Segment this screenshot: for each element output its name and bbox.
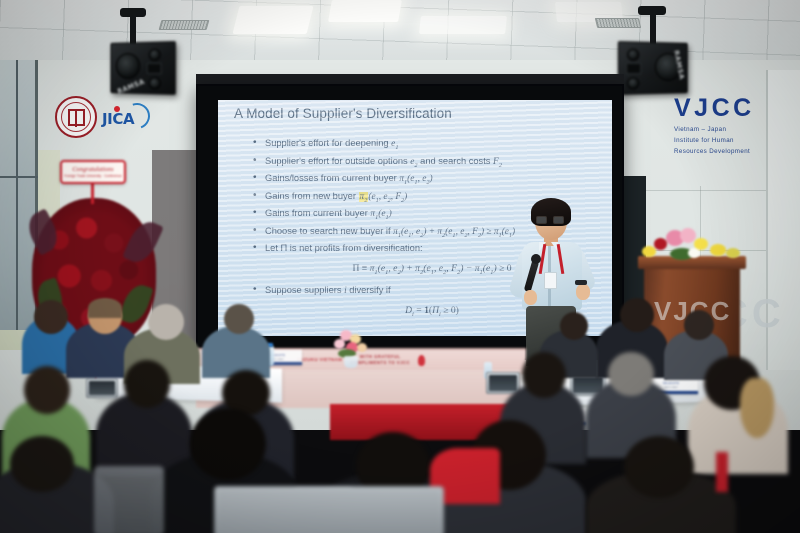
ftu-monogram [68,109,85,126]
flower [688,248,700,258]
flower [726,248,740,258]
vjcc-subtitle: Vietnam – Japan Institute for Human Reso… [674,125,784,158]
ceiling-speaker-right: RAMSA [618,41,688,95]
vjcc-title: VJCC [674,96,784,121]
vjcc-subtitle-line-1: Vietnam – Japan [674,125,784,136]
speaker-tweeter-icon [149,77,161,89]
audience-chair [94,466,164,533]
flower [710,244,726,256]
ceiling-air-vent [595,18,641,28]
ftu-seal-logo [55,96,97,138]
slide-bullet: Gains/losses from current buyer π1(e1, e… [252,173,612,186]
congratulations-sign: Congratulations Foreign Trade University… [60,160,126,184]
laptop-display [489,375,517,391]
audience-head [522,352,566,398]
laptop-screen [86,378,118,398]
speaker-port [626,63,641,74]
slide-title: A Model of Supplier's Diversification [234,106,452,121]
audience-head [34,300,68,334]
speaker-tweeter-icon [627,49,639,61]
eyeglasses-icon [536,216,566,224]
flower [334,339,345,349]
highlighted-term: π2 [359,192,369,202]
podium-flower-arrangement [636,228,748,262]
audience-head [608,352,654,396]
audience-hair-highlight [740,378,774,438]
jica-logo: JICA [100,104,152,134]
slide-bullet: Supplier's effort for deepening e1 [252,138,612,151]
speaker-pole-right [650,12,656,46]
wristwatch-icon [575,280,587,285]
speaker-port [147,63,162,74]
flower [357,343,367,352]
audience-head [684,310,714,340]
ceiling-light-panel [233,6,314,34]
banner-flame-icon [418,355,425,366]
laptop-display [217,489,441,533]
flower [654,238,667,250]
speaker-tweeter-icon [627,77,639,89]
audience-head [24,366,70,414]
jica-label: JICA [102,110,134,128]
laptop-display [89,381,115,395]
speaker-woofer-icon [116,53,140,79]
audience-head [124,360,170,408]
presenter-right-hand [576,284,590,300]
eyeglass-lens [553,216,564,224]
audience-head [148,304,184,340]
microphone-head-icon [531,254,541,264]
slide-bullet: Supplier's effort for outside options e2… [252,156,612,169]
audience-head [224,304,254,334]
vjcc-subtitle-line-2: Institute for Human [674,136,784,147]
conference-room-photo: JICA VJCC Vietnam – Japan Institute for … [0,0,800,533]
flower [642,246,656,257]
sign-line-1: Congratulations [72,166,113,173]
vjcc-subtitle-line-3: Resources Development [674,147,784,158]
vjcc-logo: VJCC Vietnam – Japan Institute for Human… [674,96,784,158]
ceiling-speaker-left: RAMSA [110,41,175,95]
ceiling-light-panel [328,0,402,22]
presenter-badge [544,272,557,289]
audience-head-foreground [190,408,266,480]
audience-head [620,298,654,332]
audience-head [560,312,588,340]
sign-line-2: Foreign Trade University · Conference [64,174,121,178]
presenter-left-hand [524,290,537,305]
eyeglass-lens [536,216,547,224]
audience-red-lanyard [716,452,728,492]
laptop-screen [214,486,444,533]
audience-hair [88,298,122,318]
audience-head-foreground [624,436,694,498]
speaker-brand-left: RAMSA [116,78,146,96]
ceiling-air-vent [159,20,210,30]
flower-vase [344,356,358,368]
speaker-tweeter-icon [149,49,161,61]
window-mullion [16,60,18,330]
audience-head-foreground [10,436,74,492]
ceiling-light-panel [419,16,507,34]
sign-post [91,182,94,204]
